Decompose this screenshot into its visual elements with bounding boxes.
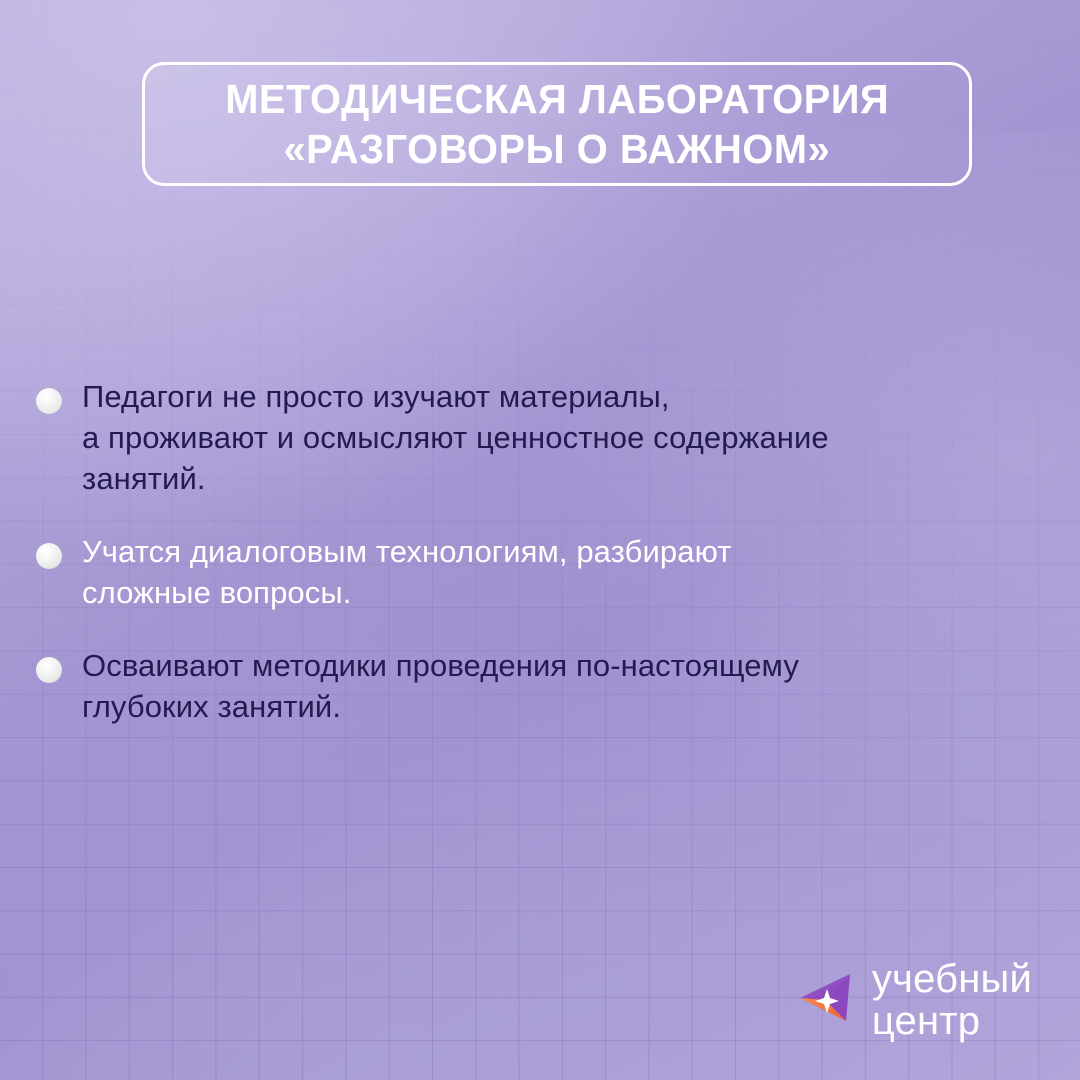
bullet-dot-icon: [36, 657, 62, 683]
list-item: Осваивают методики проведения по-настоящ…: [36, 645, 1046, 727]
bullet-dot-icon: [36, 543, 62, 569]
list-item: Учатся диалоговым технологиям, разбирают…: [36, 531, 1046, 613]
slide-canvas: МЕТОДИЧЕСКАЯ ЛАБОРАТОРИЯ «РАЗГОВОРЫ О ВА…: [0, 0, 1080, 1080]
bullet-text: Педагоги не просто изучают материалы, а …: [82, 376, 829, 499]
logo-line-2: центр: [872, 1000, 1032, 1042]
bullet-dot-icon: [36, 388, 62, 414]
list-item: Педагоги не просто изучают материалы, а …: [36, 376, 1046, 499]
title-card: МЕТОДИЧЕСКАЯ ЛАБОРАТОРИЯ «РАЗГОВОРЫ О ВА…: [142, 62, 972, 186]
title-line-1: МЕТОДИЧЕСКАЯ ЛАБОРАТОРИЯ: [225, 74, 889, 124]
bullet-text: Осваивают методики проведения по-настоящ…: [82, 645, 799, 727]
logo-line-1: учебный: [872, 958, 1032, 1000]
brand-logo: учебный центр: [794, 958, 1032, 1042]
title-line-2: «РАЗГОВОРЫ О ВАЖНОМ»: [284, 124, 831, 174]
brand-logo-text: учебный центр: [872, 958, 1032, 1042]
dart-arrow-icon: [794, 969, 856, 1031]
bullet-text: Учатся диалоговым технологиям, разбирают…: [82, 531, 732, 613]
bullet-list: Педагоги не просто изучают материалы, а …: [36, 376, 1046, 759]
